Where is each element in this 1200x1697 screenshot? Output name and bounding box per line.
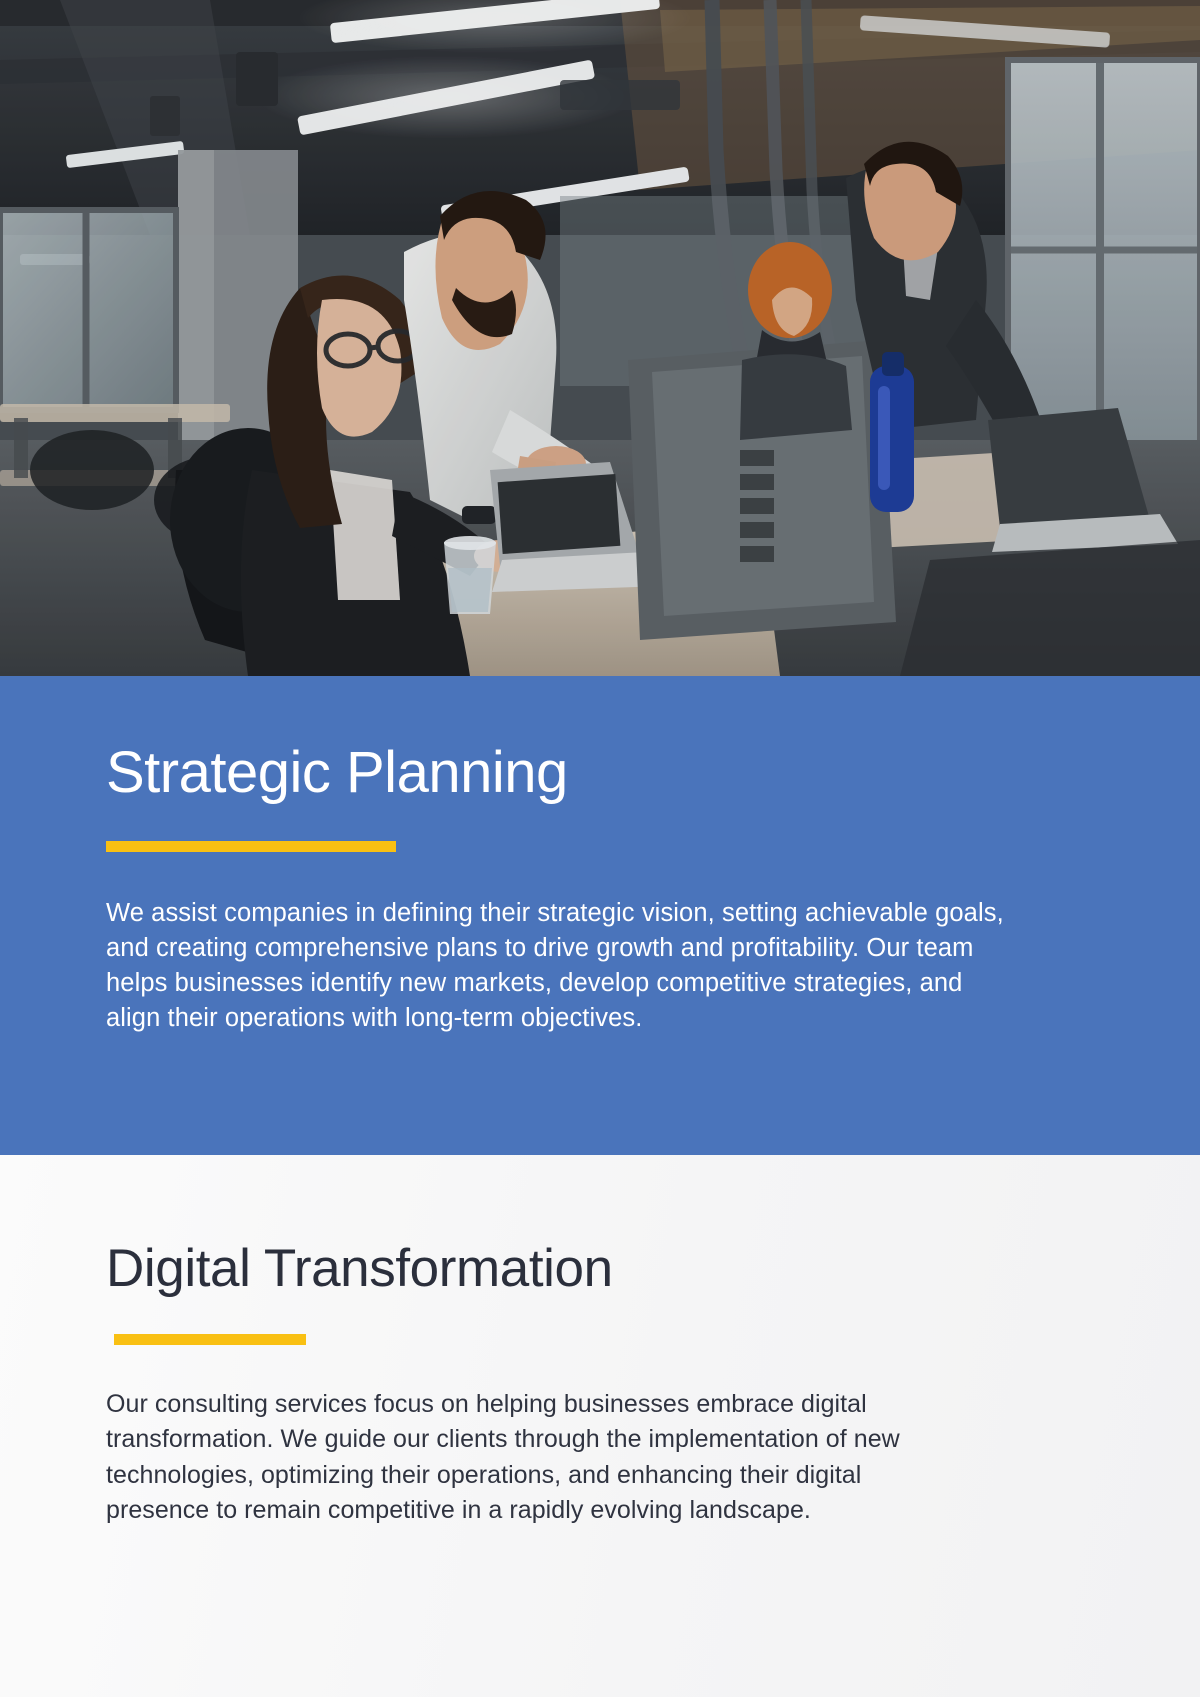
accent-underline-strategic — [106, 841, 396, 852]
hero-image — [0, 0, 1200, 676]
page-root: Strategic Planning We assist companies i… — [0, 0, 1200, 1697]
office-photo-icon — [0, 0, 1200, 676]
accent-underline-digital — [114, 1334, 306, 1345]
section-strategic-planning: Strategic Planning We assist companies i… — [0, 676, 1200, 1155]
section-digital-transformation: Digital Transformation Our consulting se… — [0, 1155, 1200, 1697]
strategic-planning-body: We assist companies in defining their st… — [106, 896, 1018, 1037]
strategic-planning-heading: Strategic Planning — [106, 676, 1094, 807]
digital-transformation-body: Our consulting services focus on helping… — [106, 1387, 954, 1529]
digital-transformation-heading: Digital Transformation — [106, 1155, 1094, 1300]
